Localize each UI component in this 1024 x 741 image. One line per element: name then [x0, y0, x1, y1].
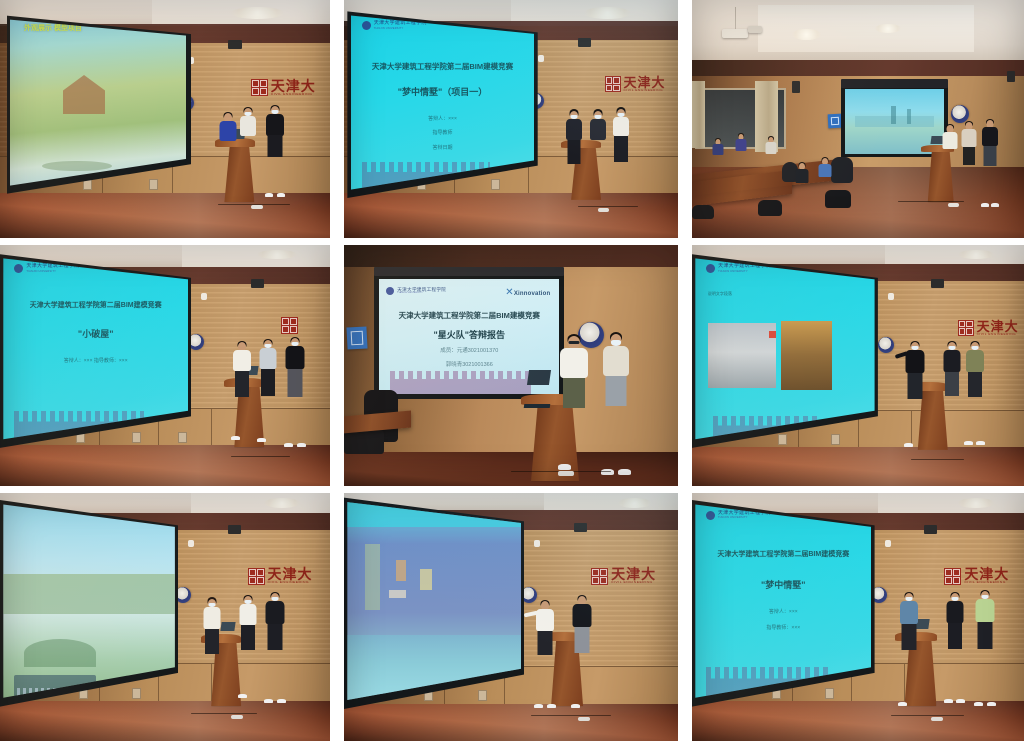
slide-footer-graphic	[390, 371, 531, 394]
person-student-1	[944, 592, 965, 701]
screen-roller	[374, 267, 564, 277]
photo-collage-grid: 天津大 CIVIL ENGINEERING 外观展示 模型项目	[0, 0, 1024, 740]
red-seal-stamp	[944, 568, 961, 585]
wall-sign: 天津大 CIVIL ENGINEERING	[251, 79, 316, 96]
x-logo-icon: ✕	[505, 287, 514, 298]
ceiling-light	[958, 498, 995, 508]
ceiling-light	[618, 498, 651, 508]
office-chair	[825, 190, 851, 208]
person-student-2	[964, 341, 985, 442]
color-swatch	[769, 331, 776, 338]
wall-sign-en: CIVIL ENGINEERING	[977, 333, 1019, 336]
slide-logo-left: 天津大学建筑工程学院 TIANJIN UNIVERSITY	[386, 287, 446, 295]
wall-camera	[188, 540, 194, 547]
person-presenter-3	[264, 105, 286, 195]
slide-title-line1: 天津大学建筑工程学院第二届BIM建模竞赛	[351, 61, 535, 72]
slide-title-line2: "梦中情墅"（项目一）	[351, 85, 535, 98]
lecture-hall-scene: 天津大 CIVIL ENGINEERING 外观展示 模型项目	[0, 0, 330, 238]
slide-line4: 指导教师	[351, 129, 535, 136]
person-judge-3	[765, 136, 777, 167]
person-student-2	[974, 590, 996, 704]
lecture-hall-scene: 天津大学建筑工程学院 TIANJIN UNIVERSITY 天津大学建筑工程学院…	[0, 245, 330, 486]
laptop-base	[524, 404, 551, 408]
person-presenter-2	[238, 107, 258, 188]
lecture-hall-closeup-scene: 天津大学建筑工程学院 TIANJIN UNIVERSITY ✕Xinnovati…	[344, 245, 678, 486]
lecture-hall-scene: 天津大 CIVIL ENGINEERING 天津大学建筑工程学院 TIANJIN…	[692, 245, 1024, 486]
university-crest	[878, 337, 894, 353]
red-seal-stamp	[281, 317, 298, 334]
person-presenter-1	[201, 597, 222, 701]
projector-mount	[748, 26, 762, 33]
wall-sign-en: CIVIL ENGINEERING	[611, 582, 656, 585]
office-chair	[758, 200, 782, 216]
cube-logo-stand	[347, 326, 368, 349]
person-presenter-1	[564, 109, 584, 195]
red-seal-stamp	[605, 76, 621, 92]
ceiling-light	[584, 7, 631, 19]
photo-cell-2[interactable]: 天津大 CIVIL ENGINEERING 天津大学建筑工程学院 TIANJIN…	[344, 0, 678, 238]
red-seal-stamp	[591, 568, 608, 585]
wall-camera	[885, 540, 891, 547]
wall-sign-cn: 天津大	[977, 320, 1019, 333]
slide-body-text: 说明文字段落	[708, 291, 819, 298]
wall-sign-en: CIVIL ENGINEERING	[271, 93, 316, 96]
wall-speaker	[924, 525, 937, 534]
slide-line5: 答辩日期	[351, 144, 535, 151]
wall-sign-cn: 天津大	[624, 76, 666, 89]
slide-logo-right: ✕Xinnovation	[505, 287, 550, 298]
wall-sign: 天津大 CIVIL ENGINEERING	[605, 76, 666, 92]
person-judge-5	[818, 157, 832, 193]
slide-line4: 指导教师：×××	[695, 624, 871, 631]
screen-roller	[841, 79, 947, 89]
office-chair	[831, 157, 853, 183]
photo-cell-1[interactable]: 天津大 CIVIL ENGINEERING 外观展示 模型项目	[0, 0, 330, 238]
wall-sign: 天津大 CIVIL ENGINEERING	[591, 567, 656, 584]
red-seal-stamp	[958, 320, 974, 336]
ceiling-light	[264, 498, 300, 508]
person-judge-2	[735, 133, 747, 164]
person-student-1	[571, 595, 593, 707]
wall-camera	[201, 293, 207, 300]
red-seal-stamp	[248, 568, 265, 585]
person-presenter-3	[611, 107, 631, 197]
wall-speaker	[578, 38, 591, 47]
slide-title-line2: "星火队"答辩报告	[379, 328, 559, 341]
person-presenter-1	[218, 112, 238, 188]
lecture-hall-scene: 天津大 CIVIL ENGINEERING 天津大学建筑工程学院 TIANJIN…	[692, 493, 1024, 741]
person-presenter-1	[898, 592, 920, 704]
lecture-hall-scene: 天津大 CIVIL ENGINEERING	[0, 493, 330, 741]
lecture-hall-scene: 天津大 CIVIL ENGINEERING 天津大学建筑工程学院 TIANJIN…	[344, 0, 678, 238]
wall-sign: 天津大 CIVIL ENGINEERING	[958, 320, 1019, 336]
wall-camera	[888, 293, 894, 300]
office-chair	[692, 205, 714, 219]
person-student-1	[941, 341, 962, 440]
university-crest	[951, 105, 969, 123]
glasses-icon	[568, 341, 579, 344]
wall-speaker	[574, 523, 587, 532]
laptop	[220, 622, 235, 631]
photo-cell-9[interactable]: 天津大 CIVIL ENGINEERING 天津大学建筑工程学院 TIANJIN…	[692, 493, 1024, 741]
slide-line3: 答辩人：××× 指导教师：×××	[3, 357, 188, 364]
person-judge-1	[712, 138, 724, 167]
render-image-right	[781, 321, 831, 390]
wall-sign: 天津大 CIVIL ENGINEERING	[944, 567, 1009, 584]
slide-title-line1: 天津大学建筑工程学院第二届BIM建模竞赛	[695, 549, 871, 559]
slide-overlay-text: 外观展示 模型项目	[24, 25, 82, 33]
wall-sign	[281, 317, 298, 334]
person-presenter-2	[588, 109, 608, 190]
wall-speaker	[251, 279, 264, 288]
slide-title-line1: 天津大学建筑工程学院第二届BIM建模竞赛	[379, 310, 559, 321]
person-presenter-1	[558, 334, 590, 467]
person-presenter-2	[961, 121, 978, 200]
photo-cell-8[interactable]: 天津大 CIVIL ENGINEERING	[344, 493, 678, 741]
slide-line3: 答辩人：×××	[351, 115, 535, 122]
ceiling-projector	[722, 29, 748, 38]
wall-sign-en: CIVIL ENGINEERING	[268, 582, 313, 585]
wall-speaker	[931, 279, 944, 288]
wall-sign-en: CIVIL ENGINEERING	[624, 89, 666, 92]
photo-cell-4[interactable]: 天津大学建筑工程学院 TIANJIN UNIVERSITY 天津大学建筑工程学院…	[0, 245, 330, 486]
person-presenter-2	[601, 332, 631, 472]
wall-speaker	[792, 81, 800, 93]
wall-camera	[534, 540, 540, 547]
slide-logo: 天津大学建筑工程学院 TIANJIN UNIVERSITY	[362, 21, 427, 30]
red-seal-stamp	[251, 79, 268, 96]
person-judge-4	[795, 162, 809, 200]
ceiling-light	[231, 7, 284, 19]
slide-title-line2: "小破屋"	[3, 327, 188, 340]
person-presenter-1	[231, 341, 252, 437]
lecture-hall-wide-scene	[692, 0, 1024, 238]
floor-reflection	[0, 193, 330, 238]
laptop[interactable]	[527, 370, 551, 385]
slide-line3: 答辩人：×××	[695, 608, 871, 615]
wall-sign: 天津大 CIVIL ENGINEERING	[248, 567, 313, 584]
person-presenter-3	[284, 337, 306, 445]
slide-title-line2: "梦中情墅"	[695, 578, 871, 591]
person-student-1	[238, 595, 259, 697]
wall-speaker	[228, 40, 242, 49]
person-presenter-3	[981, 119, 999, 205]
person-student-2	[264, 592, 286, 701]
wall-speaker	[1007, 71, 1015, 82]
wall-sign-cn: 天津大	[271, 79, 316, 93]
slide-line4: 郭晓青3021001366	[379, 360, 559, 368]
wall-speaker	[228, 525, 241, 534]
photo-cell-5[interactable]: 天津大学建筑工程学院 TIANJIN UNIVERSITY ✕Xinnovati…	[344, 245, 678, 486]
wall-sign-en: CIVIL ENGINEERING	[964, 582, 1009, 585]
photo-cell-3[interactable]	[692, 0, 1024, 238]
photo-cell-7[interactable]: 天津大 CIVIL ENGINEERING	[0, 493, 330, 741]
person-presenter-pointing	[534, 600, 556, 707]
person-presenter-gesturing	[904, 341, 926, 445]
wall-camera	[538, 55, 544, 62]
slide-line3: 成员：元通3021001370	[379, 346, 559, 354]
person-presenter-2	[257, 339, 278, 440]
render-image-left	[708, 323, 776, 388]
lecture-hall-scene: 天津大 CIVIL ENGINEERING	[344, 493, 678, 741]
person-presenter-1	[941, 124, 958, 195]
photo-cell-6[interactable]: 天津大 CIVIL ENGINEERING 天津大学建筑工程学院 TIANJIN…	[692, 245, 1024, 486]
slide-title-line1: 天津大学建筑工程学院第二届BIM建模竞赛	[3, 300, 188, 310]
cube-logo-stand	[828, 114, 843, 129]
